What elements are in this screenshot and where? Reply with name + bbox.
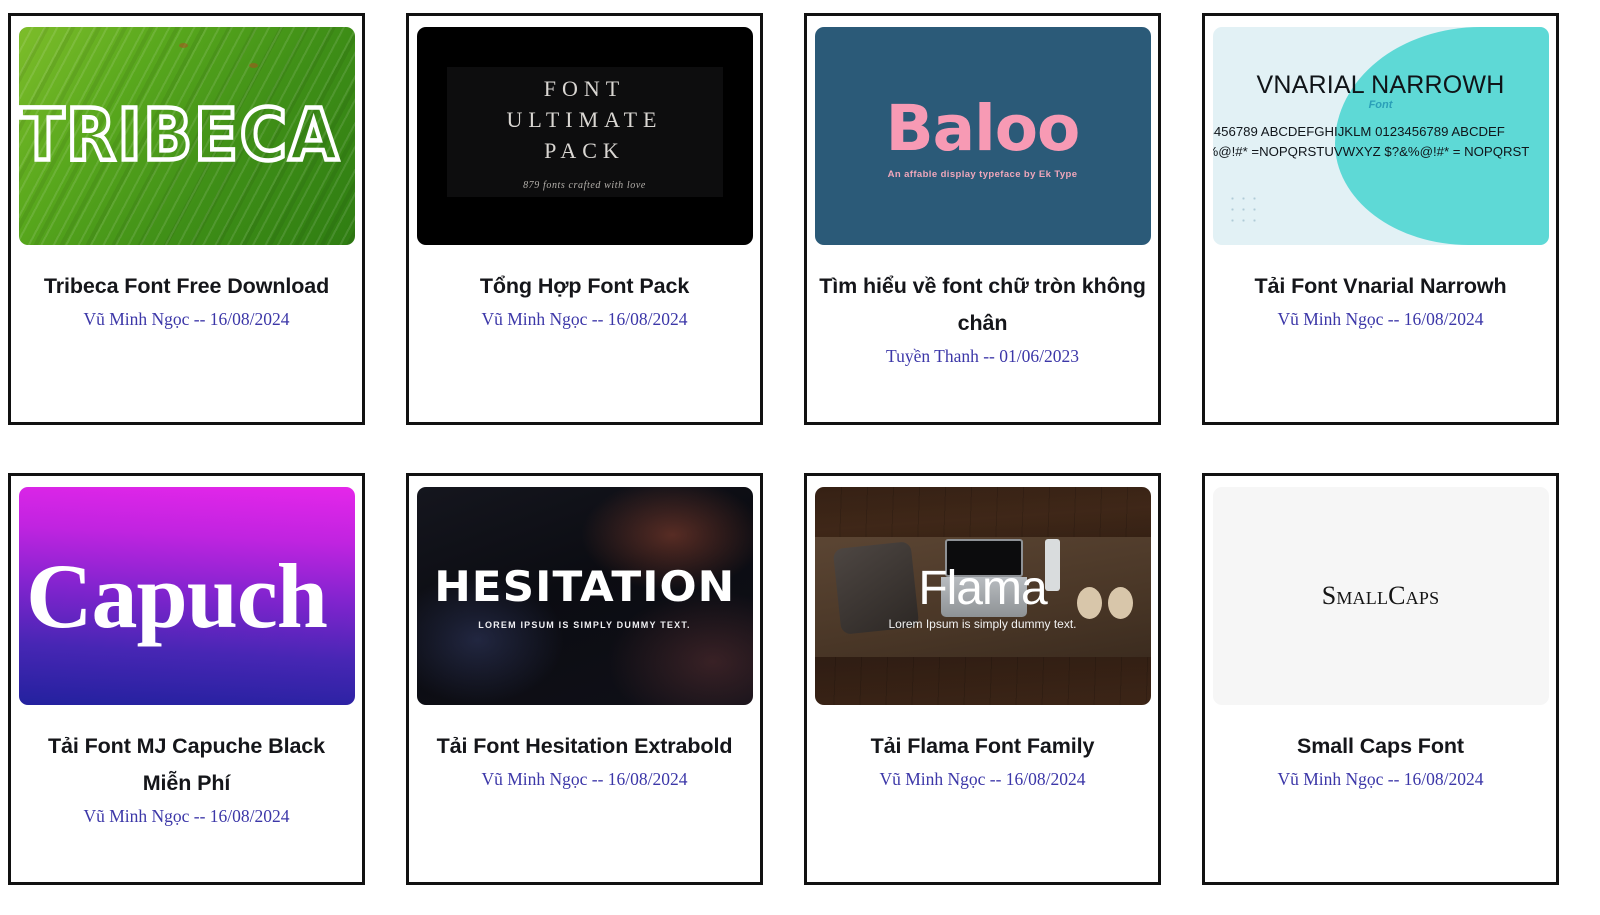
card-byline: Tuyền Thanh -- 01/06/2023	[819, 344, 1147, 369]
card-meta: Tải Font MJ Capuche Black Miễn Phí Vũ Mi…	[19, 705, 355, 828]
thumbnail-line-3: PACK	[544, 135, 625, 166]
card-thumbnail-font-ultimate-pack[interactable]: FONT ULTIMATE PACK 879 fonts crafted wit…	[417, 27, 753, 245]
thumbnail-headline: VNARIAL NARROWH	[1213, 71, 1549, 100]
thumbnail-line-2: ULTIMATE	[507, 104, 663, 135]
card-title[interactable]: Tải Flama Font Family	[819, 728, 1147, 765]
thumbnail-headline: Capuch	[26, 543, 327, 649]
thumbnail-subtitle: LOREM IPSUM IS SIMPLY DUMMY TEXT.	[478, 620, 690, 630]
card-byline: Vũ Minh Ngọc -- 16/08/2024	[23, 804, 351, 829]
card-thumbnail-small-caps[interactable]: SmallCaps	[1213, 487, 1549, 705]
card-thumbnail-flama[interactable]: ABCDEFGHIJKLMNOPQ Flama Lorem Ipsum is s…	[815, 487, 1151, 705]
card-thumbnail-baloo[interactable]: Baloo An affable display typeface by Ek …	[815, 27, 1151, 245]
article-card-hesitation-extrabold[interactable]: HESITATION LOREM IPSUM IS SIMPLY DUMMY T…	[406, 473, 763, 885]
thumbnail-sample-row-1: 3456789 ABCDEFGHIJKLM 0123456789 ABCDEF	[1213, 124, 1505, 139]
thumbnail-line-1: FONT	[544, 73, 625, 104]
thumbnail-sample-row-2: %@!#* =NOPQRSTUVWXYZ $?&%@!#* = NOPQRST	[1213, 144, 1530, 159]
thumbnail-headline: Flama	[918, 561, 1046, 616]
card-byline: Vũ Minh Ngọc -- 16/08/2024	[1217, 307, 1545, 332]
thumbnail-headline: SmallCaps	[1322, 581, 1440, 611]
card-title[interactable]: Small Caps Font	[1217, 728, 1545, 765]
card-meta: Tribeca Font Free Download Vũ Minh Ngọc …	[19, 245, 355, 331]
article-card-flama[interactable]: ABCDEFGHIJKLMNOPQ Flama Lorem Ipsum is s…	[804, 473, 1161, 885]
card-meta: Tổng Hợp Font Pack Vũ Minh Ngọc -- 16/08…	[417, 245, 753, 331]
card-thumbnail-vnarial-narrowh[interactable]: VNARIAL NARROWH Font 3456789 ABCDEFGHIJK…	[1213, 27, 1549, 245]
card-title[interactable]: Tìm hiểu về font chữ tròn không chân	[819, 268, 1147, 342]
article-card-mj-capuche-black[interactable]: Capuch Tải Font MJ Capuche Black Miễn Ph…	[8, 473, 365, 885]
card-byline: Vũ Minh Ngọc -- 16/08/2024	[421, 307, 749, 332]
article-card-vnarial-narrowh[interactable]: VNARIAL NARROWH Font 3456789 ABCDEFGHIJK…	[1202, 13, 1559, 425]
card-meta: Tìm hiểu về font chữ tròn không chân Tuy…	[815, 245, 1151, 368]
thumbnail-subtitle: Font	[1213, 99, 1549, 111]
thumbnail-subtitle: Lorem Ipsum is simply dummy text.	[888, 617, 1076, 631]
card-byline: Vũ Minh Ngọc -- 16/08/2024	[819, 767, 1147, 792]
thumbnail-subtitle: 879 fonts crafted with love	[523, 180, 646, 191]
card-thumbnail-mj-capuche-black[interactable]: Capuch	[19, 487, 355, 705]
card-meta: Tải Font Vnarial Narrowh Vũ Minh Ngọc --…	[1213, 245, 1549, 331]
card-byline: Vũ Minh Ngọc -- 16/08/2024	[421, 767, 749, 792]
article-card-font-ultimate-pack[interactable]: FONT ULTIMATE PACK 879 fonts crafted wit…	[406, 13, 763, 425]
card-meta: Tải Flama Font Family Vũ Minh Ngọc -- 16…	[815, 705, 1151, 791]
thumbnail-subtitle: An affable display typeface by Ek Type	[888, 169, 1078, 180]
thumbnail-headline: Baloo	[886, 92, 1080, 165]
thumbnail-headline: HESITATION	[434, 562, 735, 611]
poster-inner-panel: FONT ULTIMATE PACK 879 fonts crafted wit…	[447, 67, 723, 197]
card-meta: Tải Font Hesitation Extrabold Vũ Minh Ng…	[417, 705, 753, 791]
dot-grid-icon	[1227, 193, 1261, 227]
card-byline: Vũ Minh Ngọc -- 16/08/2024	[1217, 767, 1545, 792]
card-title[interactable]: Tribeca Font Free Download	[23, 268, 351, 305]
card-title[interactable]: Tải Font Vnarial Narrowh	[1217, 268, 1545, 305]
card-meta: Small Caps Font Vũ Minh Ngọc -- 16/08/20…	[1213, 705, 1549, 791]
card-byline: Vũ Minh Ngọc -- 16/08/2024	[23, 307, 351, 332]
slippers-shape	[1077, 587, 1133, 621]
card-thumbnail-hesitation[interactable]: HESITATION LOREM IPSUM IS SIMPLY DUMMY T…	[417, 487, 753, 705]
card-title[interactable]: Tải Font MJ Capuche Black Miễn Phí	[23, 728, 351, 802]
card-title[interactable]: Tổng Hợp Font Pack	[421, 268, 749, 305]
thumbnail-headline: TRIBECA	[21, 95, 341, 178]
article-card-small-caps[interactable]: SmallCaps Small Caps Font Vũ Minh Ngọc -…	[1202, 473, 1559, 885]
article-card-tribeca[interactable]: TRIBECA Tribeca Font Free Download Vũ Mi…	[8, 13, 365, 425]
card-thumbnail-tribeca[interactable]: TRIBECA	[19, 27, 355, 245]
article-card-baloo[interactable]: Baloo An affable display typeface by Ek …	[804, 13, 1161, 425]
article-card-grid: TRIBECA Tribeca Font Free Download Vũ Mi…	[0, 0, 1600, 915]
card-title[interactable]: Tải Font Hesitation Extrabold	[421, 728, 749, 765]
